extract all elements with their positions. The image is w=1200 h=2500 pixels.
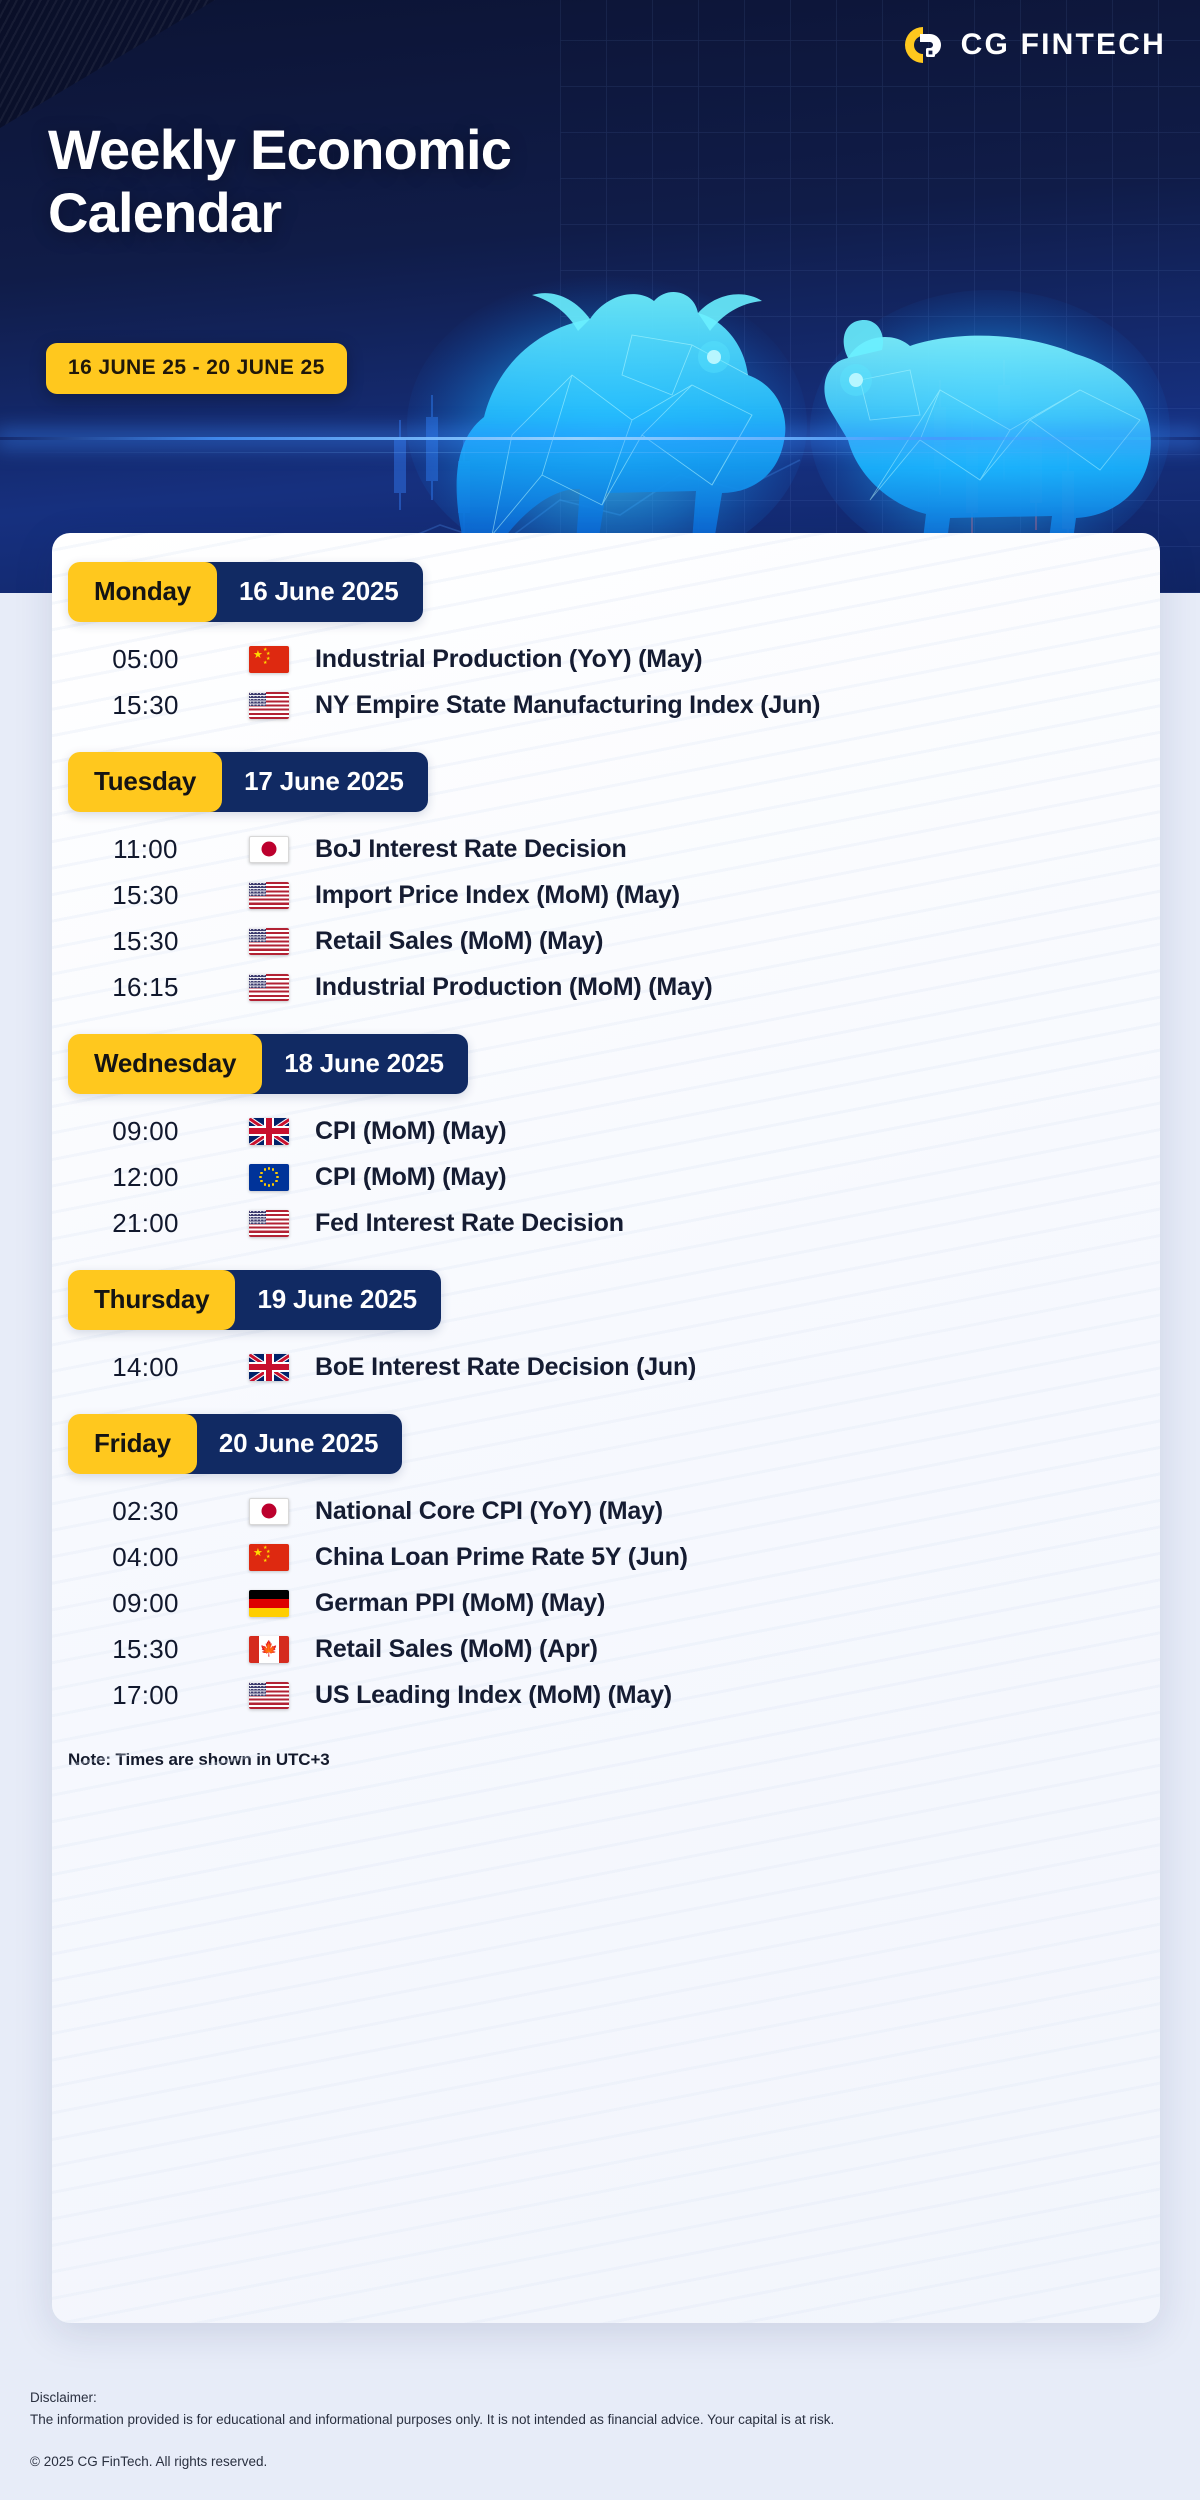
flag-united-states-icon — [249, 692, 289, 719]
event-time: 16:15 — [68, 972, 223, 1003]
day-date: 19 June 2025 — [223, 1270, 441, 1330]
event-row[interactable]: 12:00CPI (MoM) (May) — [68, 1154, 1144, 1200]
day-name: Friday — [68, 1414, 197, 1474]
event-row[interactable]: 05:00★★★★★Industrial Production (YoY) (M… — [68, 636, 1144, 682]
event-row[interactable]: 09:00German PPI (MoM) (May) — [68, 1580, 1144, 1626]
event-row[interactable]: 02:30National Core CPI (YoY) (May) — [68, 1488, 1144, 1534]
event-title: Industrial Production (MoM) (May) — [315, 973, 713, 1002]
event-row[interactable]: 04:00★★★★★China Loan Prime Rate 5Y (Jun) — [68, 1534, 1144, 1580]
event-rows: 09:00CPI (MoM) (May)12:00CPI (MoM) (May)… — [52, 1108, 1160, 1246]
event-time: 14:00 — [68, 1352, 223, 1383]
day-name: Tuesday — [68, 752, 222, 812]
event-flag-wrapper — [223, 1210, 315, 1237]
event-title: German PPI (MoM) (May) — [315, 1589, 605, 1618]
event-row[interactable]: 16:15Industrial Production (MoM) (May) — [68, 964, 1144, 1010]
flag-china-icon: ★★★★★ — [249, 646, 289, 673]
flag-united-states-icon — [249, 928, 289, 955]
event-row[interactable]: 09:00CPI (MoM) (May) — [68, 1108, 1144, 1154]
event-time: 15:30 — [68, 880, 223, 911]
event-title: Retail Sales (MoM) (May) — [315, 927, 603, 956]
event-row[interactable]: 15:30NY Empire State Manufacturing Index… — [68, 682, 1144, 728]
event-row[interactable]: 14:00BoE Interest Rate Decision (Jun) — [68, 1344, 1144, 1390]
event-title: BoJ Interest Rate Decision — [315, 835, 627, 864]
day-header: Thursday19 June 2025 — [68, 1270, 441, 1330]
event-time: 15:30 — [68, 926, 223, 957]
flag-canada-icon: 🍁 — [249, 1636, 289, 1663]
cg-monogram-icon — [900, 22, 946, 68]
event-flag-wrapper — [223, 974, 315, 1001]
event-title: CPI (MoM) (May) — [315, 1163, 506, 1192]
event-flag-wrapper — [223, 1354, 315, 1381]
event-row[interactable]: 15:30Import Price Index (MoM) (May) — [68, 872, 1144, 918]
day-header: Friday20 June 2025 — [68, 1414, 402, 1474]
event-flag-wrapper — [223, 1590, 315, 1617]
event-flag-wrapper — [223, 882, 315, 909]
day-block: Tuesday17 June 202511:00BoJ Interest Rat… — [52, 752, 1160, 1010]
hero-banner: CG FINTECH Weekly Economic Calendar 16 J… — [0, 0, 1200, 593]
event-time: 05:00 — [68, 644, 223, 675]
event-rows: 05:00★★★★★Industrial Production (YoY) (M… — [52, 636, 1160, 728]
event-flag-wrapper — [223, 928, 315, 955]
event-title: CPI (MoM) (May) — [315, 1117, 506, 1146]
event-row[interactable]: 15:30Retail Sales (MoM) (May) — [68, 918, 1144, 964]
event-rows: 14:00BoE Interest Rate Decision (Jun) — [52, 1344, 1160, 1390]
event-title: BoE Interest Rate Decision (Jun) — [315, 1353, 696, 1382]
event-title: Fed Interest Rate Decision — [315, 1209, 624, 1238]
day-block: Wednesday18 June 202509:00CPI (MoM) (May… — [52, 1034, 1160, 1246]
event-rows: 02:30National Core CPI (YoY) (May)04:00★… — [52, 1488, 1160, 1718]
event-flag-wrapper — [223, 836, 315, 863]
event-time: 12:00 — [68, 1162, 223, 1193]
event-row[interactable]: 15:30🍁Retail Sales (MoM) (Apr) — [68, 1626, 1144, 1672]
event-row[interactable]: 17:00US Leading Index (MoM) (May) — [68, 1672, 1144, 1718]
event-time: 02:30 — [68, 1496, 223, 1527]
event-time: 15:30 — [68, 690, 223, 721]
hero-glow-divider — [0, 437, 1200, 440]
day-block: Friday20 June 202502:30National Core CPI… — [52, 1414, 1160, 1718]
event-flag-wrapper — [223, 1164, 315, 1191]
calendar-card: Monday16 June 202505:00★★★★★Industrial P… — [52, 533, 1160, 2323]
flag-united-kingdom-icon — [249, 1354, 289, 1381]
event-title: NY Empire State Manufacturing Index (Jun… — [315, 691, 820, 720]
event-time: 09:00 — [68, 1588, 223, 1619]
event-flag-wrapper: ★★★★★ — [223, 1544, 315, 1571]
flag-united-states-icon — [249, 1210, 289, 1237]
flag-japan-icon — [249, 836, 289, 863]
flag-japan-icon — [249, 1498, 289, 1525]
brand-logo[interactable]: CG FINTECH — [900, 22, 1166, 68]
page-title-line1: Weekly Economic — [48, 118, 511, 181]
day-date: 20 June 2025 — [185, 1414, 403, 1474]
page-title: Weekly Economic Calendar — [48, 118, 511, 245]
day-name: Wednesday — [68, 1034, 262, 1094]
event-time: 15:30 — [68, 1634, 223, 1665]
event-flag-wrapper — [223, 1118, 315, 1145]
event-title: US Leading Index (MoM) (May) — [315, 1681, 672, 1710]
event-title: China Loan Prime Rate 5Y (Jun) — [315, 1543, 688, 1572]
day-name: Monday — [68, 562, 217, 622]
calendar-days-container: Monday16 June 202505:00★★★★★Industrial P… — [52, 562, 1160, 1718]
event-flag-wrapper: ★★★★★ — [223, 646, 315, 673]
flag-china-icon: ★★★★★ — [249, 1544, 289, 1571]
event-flag-wrapper: 🍁 — [223, 1636, 315, 1663]
flag-germany-icon — [249, 1590, 289, 1617]
day-header: Tuesday17 June 2025 — [68, 752, 428, 812]
day-block: Thursday19 June 202514:00BoE Interest Ra… — [52, 1270, 1160, 1390]
day-block: Monday16 June 202505:00★★★★★Industrial P… — [52, 562, 1160, 728]
event-row[interactable]: 11:00BoJ Interest Rate Decision — [68, 826, 1144, 872]
timezone-note: Note: Times are shown in UTC+3 — [68, 1750, 1144, 1770]
event-row[interactable]: 21:00Fed Interest Rate Decision — [68, 1200, 1144, 1246]
brand-logo-text: CG FINTECH — [961, 28, 1166, 62]
event-time: 04:00 — [68, 1542, 223, 1573]
copyright-text: © 2025 CG FinTech. All rights reserved. — [30, 2451, 1180, 2473]
event-rows: 11:00BoJ Interest Rate Decision15:30Impo… — [52, 826, 1160, 1010]
disclaimer-text: The information provided is for educatio… — [30, 2409, 1180, 2431]
event-title: Industrial Production (YoY) (May) — [315, 645, 702, 674]
day-name: Thursday — [68, 1270, 235, 1330]
event-title: Import Price Index (MoM) (May) — [315, 881, 680, 910]
day-header: Monday16 June 2025 — [68, 562, 423, 622]
day-date: 16 June 2025 — [205, 562, 423, 622]
event-flag-wrapper — [223, 1682, 315, 1709]
event-title: Retail Sales (MoM) (Apr) — [315, 1635, 598, 1664]
page-title-line2: Calendar — [48, 181, 281, 244]
event-title: National Core CPI (YoY) (May) — [315, 1497, 663, 1526]
date-range-badge: 16 JUNE 25 - 20 JUNE 25 — [46, 343, 347, 394]
flag-united-states-icon — [249, 1682, 289, 1709]
flag-united-states-icon — [249, 974, 289, 1001]
event-time: 09:00 — [68, 1116, 223, 1147]
event-flag-wrapper — [223, 692, 315, 719]
day-date: 17 June 2025 — [210, 752, 428, 812]
day-date: 18 June 2025 — [250, 1034, 468, 1094]
flag-united-states-icon — [249, 882, 289, 909]
event-time: 17:00 — [68, 1680, 223, 1711]
event-time: 11:00 — [68, 834, 223, 865]
hero-glow-divider-secondary — [0, 452, 1200, 453]
disclaimer-label: Disclaimer: — [30, 2387, 1180, 2409]
flag-united-kingdom-icon — [249, 1118, 289, 1145]
event-flag-wrapper — [223, 1498, 315, 1525]
event-time: 21:00 — [68, 1208, 223, 1239]
footer: Disclaimer: The information provided is … — [30, 2387, 1180, 2473]
flag-european-union-icon — [249, 1164, 289, 1191]
day-header: Wednesday18 June 2025 — [68, 1034, 468, 1094]
